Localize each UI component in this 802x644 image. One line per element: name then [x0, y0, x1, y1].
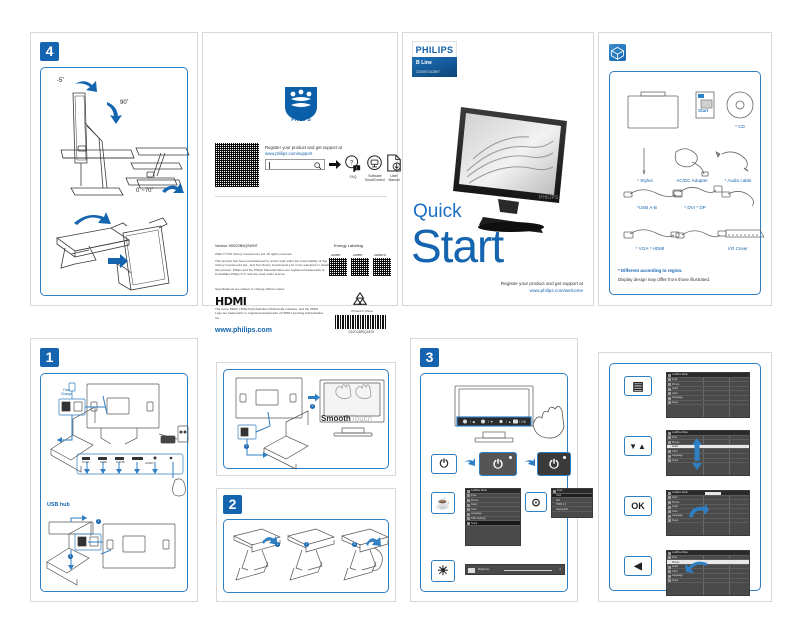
hdmi-note-text: The terms HDMI, HDMI High-Definition Mul… [215, 307, 325, 320]
panel-4-inner: -5˚ 90˚ 0˚~70˚ -5˚ 90˚ 0˚~70˚ [40, 67, 188, 296]
power-button-standby[interactable]: ⏻ [479, 452, 517, 476]
osd-row-label: Input [471, 494, 476, 497]
osd-row-label: Setup [672, 579, 678, 582]
osd-row-label: Audio [672, 387, 678, 390]
osd-row-label: Input [672, 556, 677, 559]
osd-row-label: Color [672, 450, 678, 453]
arrow-right-icon [329, 159, 341, 170]
step-number-2: 2 [223, 495, 242, 514]
osd-row-label: LowBlue Mode [672, 373, 688, 376]
philips-shield-logo: PHILIPS [279, 81, 323, 125]
energy-qr-0 [329, 258, 347, 276]
panel-osd-inner: ▤ LowBlue Mode Input Picture Audio Color… [609, 363, 761, 591]
energy-qr-2 [373, 258, 391, 276]
menu-icon: ▤ [632, 379, 643, 393]
osd-row-label: Input [672, 378, 677, 381]
osd-row-label: Language [672, 514, 683, 517]
brightness-track[interactable] [504, 570, 552, 571]
brightness-value: 0 [560, 568, 561, 571]
osd-row-label: Audio [672, 505, 678, 508]
accessory-label-stylus: * Stylus [626, 178, 664, 183]
quick-start-sheet: 4 [0, 0, 802, 644]
power-button-off[interactable]: ⏻ [431, 454, 457, 474]
accessory-label-vga-hdmi: * VGA * HDMI [622, 246, 678, 251]
svg-text:/ ▲: / ▲ [506, 420, 512, 424]
marker-2: 2 [96, 519, 101, 524]
osd-row-label: OSD Settings [471, 517, 485, 520]
port-label-hdmi: HDMI [100, 461, 107, 464]
energy-model-1: 242B9T [353, 253, 363, 257]
osd-row-label: Picture [471, 499, 478, 502]
osd-row-selected: Setup [466, 521, 520, 526]
panel-cover: PHILIPS B Line 222B9T/242B9T [402, 32, 594, 306]
energy-qr-1 [351, 258, 369, 276]
power-button-on[interactable]: ⏻ [537, 452, 571, 476]
accessory-label-io-cover: I/O Cover [716, 246, 760, 251]
port-label-dvi: DVI-D [82, 461, 89, 464]
enter-arrow-overlay-icon [687, 503, 709, 517]
osd-preview-3: LowBlue Mode Input Picture Audio Color L… [666, 490, 750, 536]
svg-text:90˚: 90˚ [120, 99, 129, 106]
osd-input-title: Input [557, 489, 562, 492]
brightness-button[interactable]: ☀ [431, 560, 455, 582]
fast-charge-label: FastCharge [61, 388, 72, 396]
osd-row-label: Picture [672, 441, 679, 444]
energy-labeling-title: Energy Labeling [334, 243, 363, 248]
lowblue-button[interactable]: ☕ [431, 492, 455, 514]
arrow-step-2-icon [521, 458, 535, 470]
osd-row-label: Color [672, 392, 678, 395]
accessory-label-guide: Start [698, 108, 708, 113]
osd-row-label: Setup [672, 459, 678, 462]
base-marker-1: 1 [275, 542, 280, 547]
osd-row-label: Color [471, 508, 477, 511]
osd-row-label: LowBlue Mode [672, 431, 688, 434]
accessories-note-design: Display design may differ from those ill… [618, 277, 710, 282]
version-text: Version: M9222B9QSWNT [215, 244, 258, 249]
accessory-label-adapter: AC/DC Adapter [667, 178, 717, 183]
osd-row-label: Language [672, 454, 683, 457]
barcode-number: Q10G24B9Q1825 [335, 330, 387, 335]
usb-hub-label: USB hub [47, 502, 70, 508]
cover-register-line1: Register your product and get support at [423, 280, 583, 287]
svg-text:!: ! [356, 165, 357, 170]
panel-power-osd: 3 / ◀ / ▼ / ▲ / OK [410, 338, 578, 602]
osd-row-label: LowBlue Mode [471, 489, 487, 492]
brightness-bar: Brightness 0 [465, 564, 565, 575]
copyright-text: 2020 © TOP Victory Investments Ltd. All … [215, 252, 335, 256]
ok-button[interactable]: OK [624, 496, 652, 516]
osd-row-label: Language [471, 512, 482, 515]
faq-icon: ? ! [344, 155, 361, 172]
osd-row-label: DisplayPort [556, 508, 568, 511]
osd-row-label: Setup [471, 522, 477, 525]
smoothtouch-marker-2: 2 [310, 404, 315, 409]
base-assembly-illustration [224, 520, 390, 592]
panel-connections: 1 [30, 338, 198, 602]
accessory-label-usb: *USB A-B [624, 205, 670, 210]
barcode [335, 315, 387, 329]
spec-note-text: Specifications are subject to change wit… [215, 287, 335, 291]
svg-text:/ ▼: / ▼ [488, 420, 494, 424]
search-input[interactable] [265, 159, 325, 170]
osd-row-label: Input [672, 436, 677, 439]
osd-row-label: Language [672, 396, 683, 399]
osd-row-label: LowBlue Mode [672, 491, 688, 494]
panel-smoothtouch: 1 2 SmoothTouch [216, 362, 396, 476]
smoothtouch-marker-1: 1 [244, 444, 249, 449]
osd-row-label: Setup [672, 401, 678, 404]
faq-label: FAQ [343, 175, 363, 179]
updown-icon: ▼▲ [629, 442, 647, 451]
cover-register-link[interactable]: www.philips.com/welcome [423, 287, 583, 294]
osd-row-label: Picture [672, 383, 679, 386]
port-label-dsub: D-SUB [116, 461, 124, 464]
svg-text:0˚~70˚: 0˚~70˚ [136, 187, 154, 194]
product-badge: PHILIPS B Line 222B9T/242B9T [412, 41, 457, 77]
energy-model-2: 242B9TN [374, 253, 386, 257]
panel-2-inner: 1 2 3 [223, 519, 389, 593]
osd-row-label: LowBlue Mode [672, 551, 688, 554]
osd-row-label: Audio [471, 503, 477, 506]
accessory-label-cd: * CD [722, 124, 758, 129]
accessory-label-audio: * Audio cable [714, 178, 762, 183]
support-qr-code [215, 143, 259, 187]
osd-row-label: Audio [672, 565, 678, 568]
osd-preview-2: LowBlue Mode Input Picture Audio Color L… [666, 430, 750, 476]
accessories-note-region: * Different according to region. [618, 268, 682, 273]
panel-1-inner: FastCharge DVI-D HDMI D-SUB AUDIO USB hu… [40, 373, 188, 592]
marker-1: 1 [68, 554, 73, 559]
product-line: B Line [412, 57, 457, 68]
product-model: 222B9T/242B9T [412, 68, 457, 77]
osd-input-menu: Input VGA DVI HDMI 1.4 DisplayPort [551, 488, 593, 518]
base-marker-3: 3 [352, 542, 357, 547]
osd-row-label: Input [672, 496, 677, 499]
osd-row-label: Language [672, 574, 683, 577]
search-icon [314, 162, 322, 170]
back-button[interactable]: ◀ [624, 556, 652, 576]
step-number-3: 3 [420, 348, 439, 367]
printed-in-note: Printed in China [345, 309, 379, 313]
osd-row-label: HDMI 1.4 [556, 503, 566, 506]
osd-row-label: Audio [672, 445, 678, 448]
menu-button[interactable]: ▤ [624, 376, 652, 396]
smoothtouch-inner: 1 2 SmoothTouch [223, 369, 389, 469]
base-marker-2: 2 [304, 542, 309, 547]
svg-text:PHILIPS: PHILIPS [539, 195, 559, 201]
smoothtouch-light: Touch [351, 414, 372, 423]
port-label-audio: AUDIO [145, 462, 154, 465]
input-source-button[interactable]: ⊙ [525, 492, 547, 512]
osd-preview-1: LowBlue Mode Input Picture Audio Color L… [666, 372, 750, 418]
stand-adjustment-illustration: -5˚ 90˚ 0˚~70˚ [41, 68, 191, 303]
accessory-label-dvi-dp: * DVI * DP [672, 205, 718, 210]
back-arrow-overlay-icon [683, 561, 707, 573]
osd-main-menu: LowBlue Mode Input Picture Audio Color L… [465, 488, 521, 546]
osd-row: DisplayPort [552, 507, 592, 512]
legal-text: This product has been manufactured by an… [215, 259, 335, 277]
panel-osd-navigation: ▤ LowBlue Mode Input Picture Audio Color… [598, 352, 772, 602]
panel-3-inner: / ◀ / ▼ / ▲ / OK ⏻ ⏻ [420, 373, 568, 592]
philips-website-link[interactable]: www.philips.com [215, 327, 272, 334]
panel-accessories: * CD Start * Stylus AC/DC Adapter * Audi… [598, 32, 772, 306]
cover-register-block: Register your product and get support at… [423, 280, 583, 295]
energy-model-0: 222B9T [331, 253, 341, 257]
panel-base-assembly: 2 [216, 488, 396, 602]
accessories-inner: * CD Start * Stylus AC/DC Adapter * Audi… [609, 71, 761, 295]
cover-start-text: Start [411, 219, 503, 273]
ok-label: OK [631, 501, 645, 511]
smoothtouch-brand: SmoothTouch [321, 414, 372, 423]
step-number-1: 1 [40, 348, 59, 367]
updown-arrow-overlay-icon [691, 438, 703, 470]
usermanual-icon [386, 154, 402, 172]
brand-name: PHILIPS [412, 41, 457, 57]
updown-button[interactable]: ▼▲ [624, 436, 652, 456]
smoothtouch-bold: Smooth [321, 414, 351, 423]
osd-row-label: Color [672, 510, 678, 513]
register-support-line2: www.philips.com/support [265, 151, 312, 157]
brightness-label: Brightness [478, 568, 489, 571]
osd-icon [467, 490, 470, 493]
back-icon: ◀ [634, 561, 642, 572]
connections-illustration [41, 374, 191, 586]
osd-row-label: Color [672, 570, 678, 573]
panel-stand-adjustment: 4 [30, 32, 198, 306]
recycle-icon [351, 291, 369, 307]
osd-row-label: DVI [556, 499, 560, 502]
package-icon [609, 44, 626, 61]
brightness-icon [468, 568, 475, 573]
osd-row-label: Setup [672, 519, 678, 522]
arrow-step-1-icon [461, 458, 475, 470]
osd-row-label: Picture [672, 501, 679, 504]
smartcontrol-icon [366, 155, 383, 172]
osd-row-label: VGA [556, 494, 561, 497]
step-number-4: 4 [40, 42, 59, 61]
svg-text:PHILIPS: PHILIPS [291, 117, 311, 123]
svg-text:/ OK: / OK [519, 420, 527, 424]
monitor-controls-illustration: / ◀ / ▼ / ▲ / OK [421, 384, 571, 446]
osd-row-label: Picture [672, 561, 679, 564]
svg-text:-5˚: -5˚ [57, 77, 64, 84]
monitor-illustration: PHILIPS [443, 99, 573, 239]
osd-preview-4: LowBlue Mode Input Picture Audio Color L… [666, 550, 750, 596]
panel-product-info: PHILIPS Register your product and get su… [202, 32, 398, 306]
